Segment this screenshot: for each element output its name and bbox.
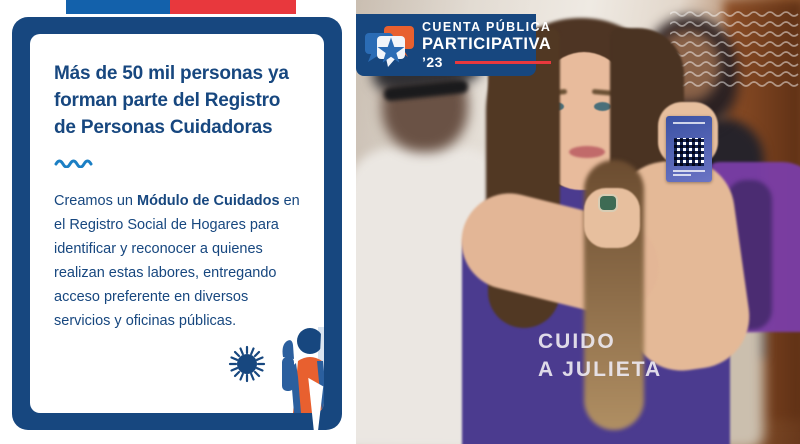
speech-bubbles-star-icon [364, 21, 416, 69]
sunburst-icon [230, 347, 264, 381]
body-copy: Creamos un Módulo de Cuidados en el Regi… [54, 189, 300, 333]
content-card: Más de 50 mil personas ya forman parte d… [12, 17, 342, 430]
logo-line-1: CUENTA PÚBLICA [422, 21, 551, 34]
body-part-1: Creamos un [54, 193, 137, 209]
speech-bubble-tail [308, 376, 329, 444]
logo-text-block: CUENTA PÚBLICA PARTICIPATIVA ’23 [422, 21, 551, 69]
chile-flag-stripes [66, 0, 296, 14]
qr-code [674, 138, 704, 166]
content-card-inner: Más de 50 mil personas ya forman parte d… [30, 34, 324, 413]
logo-accent-bar [449, 61, 551, 64]
subject-mouth [569, 146, 605, 158]
body-bold-1: Módulo de Cuidados [137, 193, 280, 209]
tshirt-text: CUIDO A JULIETA [538, 328, 738, 384]
subject-eye-right [594, 102, 611, 111]
body-part-2: en el Registro Social de Hogares para id… [54, 193, 300, 329]
tshirt-line-2: A JULIETA [538, 356, 738, 384]
headline: Más de 50 mil personas ya forman parte d… [54, 60, 300, 141]
person-raising-hand-illustration [226, 317, 324, 413]
flag-stripe-blue [66, 0, 170, 14]
qr-credential-card [666, 116, 712, 182]
tshirt-line-1: CUIDO [538, 328, 738, 356]
wave-divider [54, 155, 324, 173]
logo-year: ’23 [422, 55, 443, 69]
subject-ring [600, 196, 616, 210]
flag-stripe-red [170, 0, 296, 14]
logo-year-row: ’23 [422, 55, 551, 69]
poster-canvas: CUIDO A JULIETA Más de 50 mil personas y… [0, 0, 800, 444]
logo-line-2: PARTICIPATIVA [422, 36, 551, 53]
cuenta-publica-logo: CUENTA PÚBLICA PARTICIPATIVA ’23 [356, 14, 536, 76]
